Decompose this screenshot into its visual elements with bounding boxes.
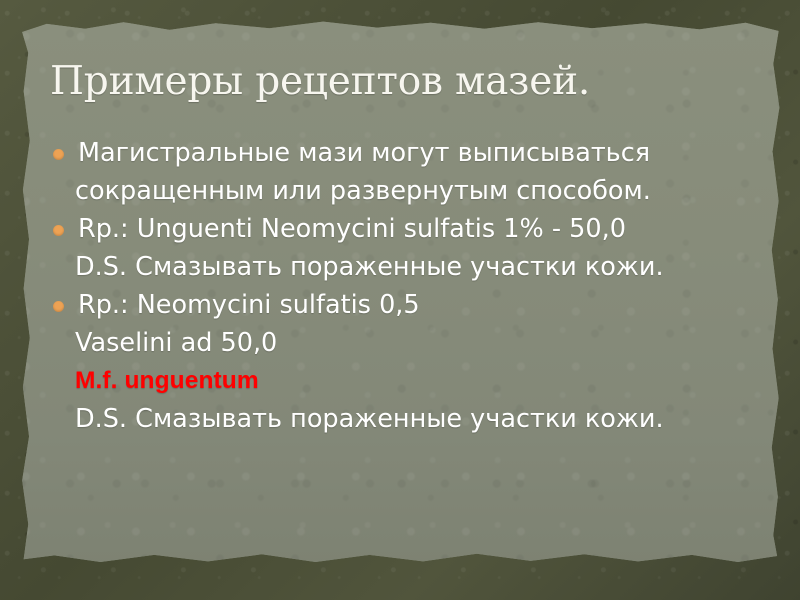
line-text: M.f. unguentum <box>75 367 259 394</box>
line-text: сокращенным или развернутым способом. <box>75 176 651 206</box>
slide-content: Примеры рецептов мазей. Магистральные ма… <box>0 0 800 600</box>
line-text: Vaselini ad 50,0 <box>75 328 277 358</box>
page-title: Примеры рецептов мазей. <box>50 62 760 103</box>
bullet-list-item: Rp.: Neomycini sulfatis 0,5 <box>48 286 790 324</box>
bullet-dot-icon <box>53 225 64 236</box>
continuation-line: D.S. Смазывать пораженные участки кожи. <box>48 248 790 286</box>
line-text: D.S. Смазывать пораженные участки кожи. <box>75 404 664 434</box>
line-text: D.S. Смазывать пораженные участки кожи. <box>75 252 664 282</box>
continuation-line: D.S. Смазывать пораженные участки кожи. <box>48 400 790 438</box>
bullet-list-item: Rp.: Unguenti Neomycini sulfatis 1% - 50… <box>48 210 790 248</box>
bullet-list-item: Магистральные мази могут выписываться <box>48 134 790 172</box>
slide-body-list: Магистральные мази могут выписыватьсясок… <box>48 134 790 438</box>
continuation-line: Vaselini ad 50,0 <box>48 324 790 362</box>
bullet-dot-icon <box>53 301 64 312</box>
continuation-line: M.f. unguentum <box>48 362 790 400</box>
presentation-slide: Примеры рецептов мазей. Магистральные ма… <box>0 0 800 600</box>
line-text: Магистральные мази могут выписываться <box>78 138 650 168</box>
line-text: Rp.: Unguenti Neomycini sulfatis 1% - 50… <box>78 214 626 244</box>
bullet-dot-icon <box>53 149 64 160</box>
continuation-line: сокращенным или развернутым способом. <box>48 172 790 210</box>
line-text: Rp.: Neomycini sulfatis 0,5 <box>78 290 420 320</box>
